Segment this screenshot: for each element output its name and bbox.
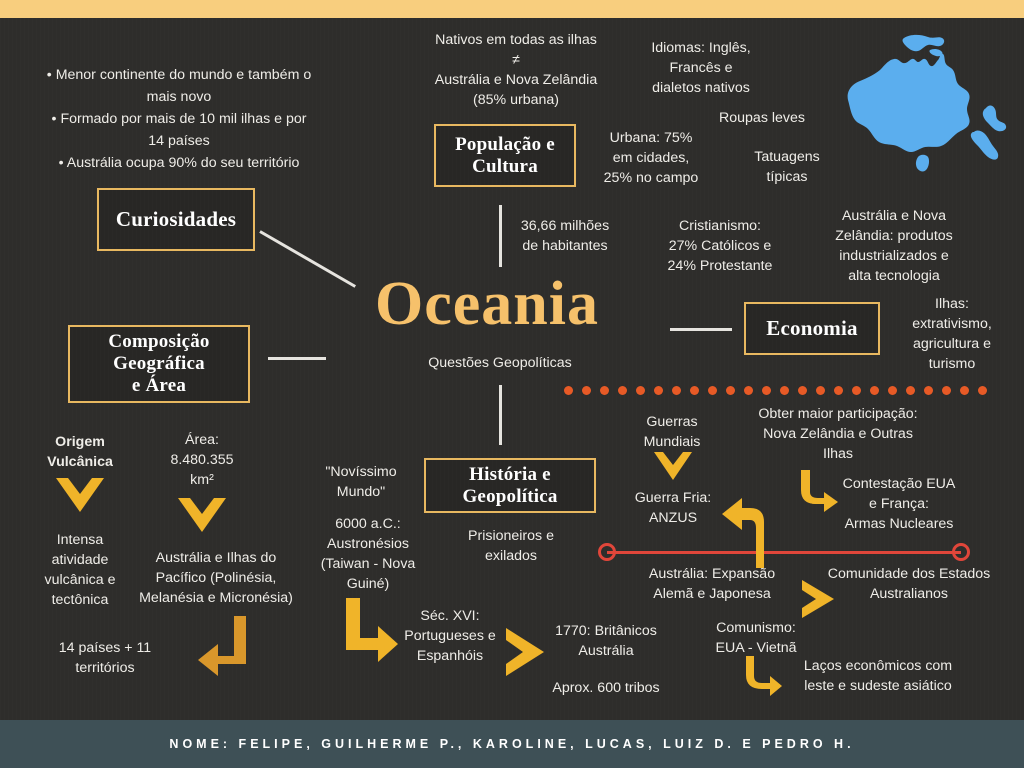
label-area: Área: 8.480.355 km² [140, 430, 264, 490]
footer-bar: NOME: FELIPE, GUILHERME P., KAROLINE, LU… [0, 720, 1024, 768]
box-populacao-cultura[interactable]: População e Cultura [434, 124, 576, 187]
text-cristianismo: Cristianismo: 27% Católicos e 24% Protes… [640, 216, 800, 276]
text-idiomas: Idiomas: Inglês, Francês e dialetos nati… [626, 38, 776, 98]
text-austronesios: 6000 a.C.: Austronésios (Taiwan - Nova G… [302, 514, 434, 594]
text-comunidade-estados: Comunidade dos Estados Australianos [806, 564, 1012, 604]
connector-economia [670, 328, 732, 331]
chevron-down-icon-guerras [654, 452, 692, 486]
text-guerra-fria-anzus: Guerra Fria: ANZUS [620, 488, 726, 528]
text-ilhas-extrativismo: Ilhas: extrativismo, agricultura e turis… [880, 294, 1024, 374]
text-habitantes: 36,66 milhões de habitantes [500, 216, 630, 256]
text-comunismo-eua-vietna: Comunismo: EUA - Vietnã [692, 618, 820, 658]
connector-curiosidades [259, 230, 356, 288]
text-australia-expansao: Austrália: Expansão Alemã e Japonesa [618, 564, 806, 604]
chevron-down-icon-origem [56, 478, 104, 520]
text-produtos-industrializados: Austrália e Nova Zelândia: produtos indu… [806, 206, 982, 286]
box-composicao-geografica[interactable]: Composição Geográfica e Área [68, 325, 250, 403]
connector-historia [499, 385, 502, 445]
text-guerras-mundiais: Guerras Mundiais [624, 412, 720, 452]
arrow-down-left-icon [196, 616, 258, 678]
connector-composicao [268, 357, 326, 360]
curiosidades-bullets: • Menor continente do mundo e também o m… [14, 64, 344, 174]
text-prisioneiros-exilados: Prisioneiros e exilados [440, 526, 582, 566]
text-lacos-economicos: Laços econômicos com leste e sudeste asi… [772, 656, 984, 696]
text-tatuagens-tipicas: Tatuagens típicas [727, 147, 847, 187]
text-aprox-600-tribos: Aprox. 600 tribos [536, 678, 676, 698]
page-title: Oceania [375, 272, 599, 336]
box-historia-geopolitica[interactable]: História e Geopolítica [424, 458, 596, 513]
text-1770-britanicos: 1770: Britânicos Austrália [540, 621, 672, 661]
box-curiosidades[interactable]: Curiosidades [97, 188, 255, 251]
chevron-down-icon-area [178, 498, 226, 540]
text-roupas-leves: Roupas leves [700, 108, 824, 128]
text-contestacao-eua-franca: Contestação EUA e França: Armas Nucleare… [820, 474, 978, 534]
timeline-red [598, 543, 970, 561]
timeline-node-end [952, 543, 970, 561]
text-urbana-percentual: Urbana: 75% em cidades, 25% no campo [586, 128, 716, 188]
infographic-canvas: • Menor continente do mundo e também o m… [0, 0, 1024, 768]
top-gold-bar [0, 0, 1024, 18]
text-sec-xvi: Séc. XVI: Portugueses e Espanhóis [386, 606, 514, 666]
text-14-paises-territorios: 14 países + 11 territórios [30, 638, 180, 678]
text-australia-ilhas-pacifico: Austrália e Ilhas do Pacífico (Polinésia… [118, 548, 314, 608]
box-economia[interactable]: Economia [744, 302, 880, 355]
australia-new-zealand-map [830, 28, 1020, 178]
label-origem-vulcanica: Origem Vulcânica [20, 432, 140, 472]
timeline-node-start [598, 543, 616, 561]
text-nativos-ilhas: Nativos em todas as ilhas ≠ Austrália e … [406, 30, 626, 110]
footer-names: NOME: FELIPE, GUILHERME P., KAROLINE, LU… [169, 737, 854, 751]
dotted-divider [564, 386, 987, 395]
center-subtitle: Questões Geopolíticas [400, 353, 600, 373]
text-obter-participacao: Obter maior participação: Nova Zelândia … [736, 404, 940, 464]
arrow-curved-up-left-icon [718, 490, 776, 568]
text-novissimo-mundo: "Novíssimo Mundo" [306, 462, 416, 502]
